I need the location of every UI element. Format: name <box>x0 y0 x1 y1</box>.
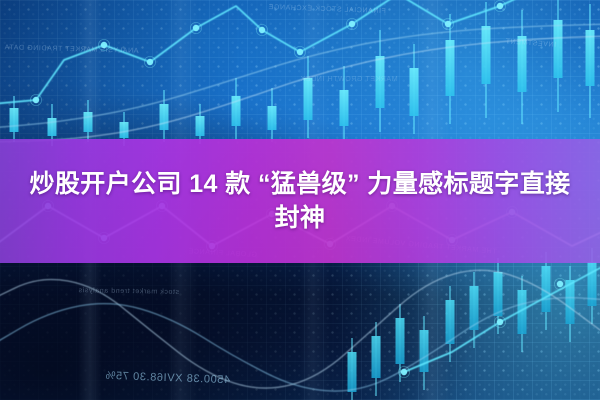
data-point-dot <box>497 3 503 9</box>
candlestick-body <box>48 118 57 136</box>
candlestick-group-upper <box>10 0 595 146</box>
candlestick-body <box>446 40 455 96</box>
trend-line <box>0 298 600 391</box>
data-point-dot <box>497 319 503 325</box>
data-point-dot <box>557 281 563 287</box>
data-point-dot <box>445 21 451 27</box>
data-point-dot <box>259 27 265 33</box>
candlestick-body <box>372 336 381 378</box>
article-banner: ANALYSIS MARKET TRADING DATA FINANCIAL S… <box>0 0 600 400</box>
headline-band: 炒股开户公司 14 款 “猛兽级” 力量感标题字直接 封神 <box>0 139 600 263</box>
candlestick-body <box>120 122 129 138</box>
candlestick-body <box>446 300 455 344</box>
data-point-dot <box>147 59 153 65</box>
candlestick-body <box>340 90 349 126</box>
candlestick-body <box>304 78 313 120</box>
candlestick-body <box>554 20 563 78</box>
candlestick-body <box>494 272 503 316</box>
candlestick-body <box>10 108 19 132</box>
candlestick-body <box>348 352 357 392</box>
candlestick-body <box>84 112 93 132</box>
candlestick-body <box>410 68 419 116</box>
data-point-dot <box>297 49 303 55</box>
headline-line-1: 炒股开户公司 14 款 “猛兽级” 力量感标题字直接 <box>12 167 588 201</box>
candlestick-body <box>586 30 595 86</box>
candlestick-body <box>160 104 169 130</box>
data-point-dot <box>349 21 355 27</box>
data-point-dot <box>33 97 39 103</box>
candlestick-body <box>542 266 551 312</box>
headline-line-2: 封神 <box>12 201 588 235</box>
candlestick-body <box>482 26 491 84</box>
watermark-text: MARKET GROWTH INDEX <box>300 76 398 83</box>
page-title: 炒股开户公司 14 款 “猛兽级” 力量感标题字直接 封神 <box>0 167 600 235</box>
candlestick-body <box>268 106 277 130</box>
data-point-dot <box>401 369 407 375</box>
candlestick-body <box>396 318 405 364</box>
candlestick-body <box>196 116 205 136</box>
data-point-dot <box>193 25 199 31</box>
